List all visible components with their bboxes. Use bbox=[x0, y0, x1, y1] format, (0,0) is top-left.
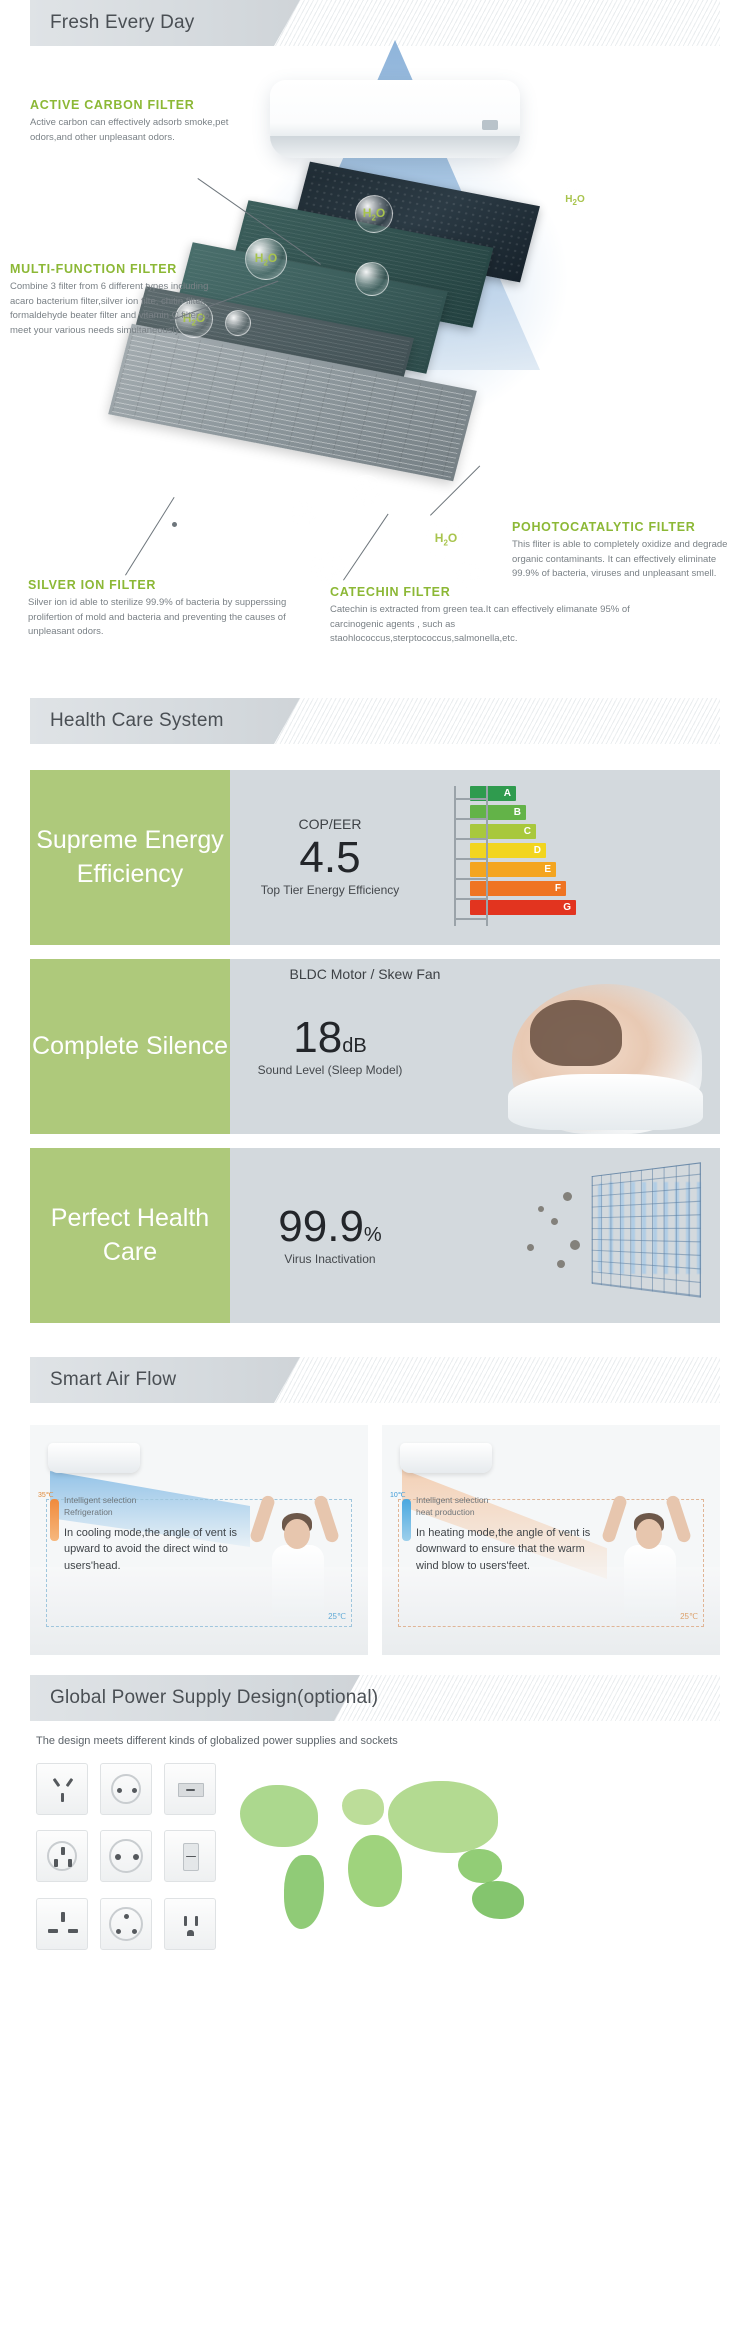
section-fresh-every-day: Fresh Every Day H2O H2O H2O bbox=[0, 0, 750, 620]
air-conditioner-icon bbox=[48, 1443, 140, 1473]
bubble-label-5: H2O bbox=[435, 531, 457, 547]
map-africa bbox=[348, 1835, 402, 1907]
temp-label-bottom: 25℃ bbox=[680, 1612, 698, 1621]
water-bubble-icon bbox=[225, 310, 251, 336]
water-bubble-icon bbox=[355, 262, 389, 296]
map-north-america bbox=[240, 1785, 318, 1847]
health-card-heading: Supreme Energy Efficiency bbox=[30, 770, 230, 945]
filter-title: SILVER ION FILTER bbox=[28, 578, 318, 592]
map-south-america bbox=[284, 1855, 324, 1929]
flow-body-text: In heating mode,the angle of vent is dow… bbox=[416, 1525, 596, 1575]
filter-title: MULTI-FUNCTION FILTER bbox=[10, 262, 215, 276]
virus-particle-icon bbox=[551, 1218, 558, 1225]
stat-label-top: BLDC Motor / Skew Fan bbox=[240, 966, 490, 982]
section-title-fresh: Fresh Every Day bbox=[30, 12, 194, 34]
virus-particle-icon bbox=[538, 1206, 544, 1212]
health-card-virus: Perfect Health Care 99.9% Virus Inactiva… bbox=[30, 1148, 720, 1323]
health-card-silence: Complete Silence BLDC Motor / Skew Fan 1… bbox=[30, 959, 720, 1134]
bubble-label-1: H2O bbox=[363, 206, 385, 222]
virus-particle-icon bbox=[527, 1244, 534, 1251]
water-bubble-icon: H2O bbox=[425, 518, 467, 560]
filter-label-silver-ion: SILVER ION FILTER Silver ion id able to … bbox=[28, 578, 318, 640]
stat-label-top: COP/EER bbox=[230, 816, 430, 832]
virus-particle-icon bbox=[563, 1192, 572, 1201]
socket-switch-icon bbox=[164, 1763, 216, 1815]
map-australia bbox=[472, 1881, 524, 1919]
power-content-row bbox=[30, 1763, 720, 1953]
health-card-heading: Perfect Health Care bbox=[30, 1148, 230, 1323]
section-title-health: Health Care System bbox=[30, 710, 224, 732]
thermometer-icon bbox=[402, 1499, 411, 1541]
socket-us-icon bbox=[164, 1898, 216, 1950]
banner-hatch-pattern bbox=[274, 698, 720, 744]
water-bubble-icon bbox=[350, 475, 382, 507]
water-bubble-icon bbox=[290, 500, 318, 528]
banner-hatch-pattern bbox=[274, 1357, 720, 1403]
display-led-icon bbox=[482, 120, 498, 130]
flow-card-cooling: 35℃ 25℃ Intelligent selection Refrigerat… bbox=[30, 1425, 368, 1655]
baby-icon bbox=[512, 984, 702, 1134]
health-card-heading: Complete Silence bbox=[30, 959, 230, 1134]
socket-schuko-icon bbox=[100, 1830, 152, 1882]
stat-caption: Virus Inactivation bbox=[230, 1251, 430, 1268]
section-health-care-system: Health Care System Supreme Energy Effici… bbox=[0, 620, 750, 1323]
virus-filter-graphic bbox=[430, 1148, 720, 1323]
leader-line-catechin bbox=[343, 514, 389, 581]
flow-card-text: Intelligent selection Refrigeration In c… bbox=[64, 1495, 244, 1574]
world-map-graphic bbox=[230, 1763, 720, 1953]
leader-line-silver-ion bbox=[125, 497, 175, 576]
flow-mode-line-1: Intelligent selection bbox=[64, 1495, 244, 1507]
stat-caption: Top Tier Energy Efficiency bbox=[230, 882, 430, 899]
filter-grid-icon bbox=[592, 1162, 701, 1297]
filter-label-active-carbon: ACTIVE CARBON FILTER Active carbon can e… bbox=[30, 98, 245, 145]
stat-value: 18dB bbox=[230, 1014, 430, 1062]
section-banner-health: Health Care System bbox=[30, 698, 720, 744]
socket-za-icon bbox=[36, 1830, 88, 1882]
stat-value: 4.5 bbox=[230, 834, 430, 882]
socket-3pin-round-icon bbox=[100, 1898, 152, 1950]
flow-mode-line-1: Intelligent selection bbox=[416, 1495, 596, 1507]
virus-particle-icon bbox=[570, 1240, 580, 1250]
stat-unit: dB bbox=[342, 1035, 366, 1057]
water-bubble-icon: H2O bbox=[560, 185, 590, 215]
filter-label-catechin: CATECHIN FILTER Catechin is extracted fr… bbox=[330, 585, 630, 647]
map-europe bbox=[342, 1789, 384, 1825]
socket-eu-round-icon bbox=[100, 1763, 152, 1815]
air-conditioner-unit bbox=[270, 80, 520, 158]
socket-au-icon bbox=[36, 1763, 88, 1815]
thermometer-icon bbox=[50, 1499, 59, 1541]
map-southeast-asia bbox=[458, 1849, 502, 1883]
leader-dot-silver-ion bbox=[172, 522, 177, 527]
flow-card-text: Intelligent selection heat production In… bbox=[416, 1495, 596, 1574]
energy-label-graphic: A B C D E F G bbox=[430, 770, 720, 945]
health-card-body: COP/EER 4.5 Top Tier Energy Efficiency bbox=[230, 770, 720, 945]
section-global-power: Global Power Supply Design(optional) The… bbox=[0, 1655, 750, 1983]
filter-label-photocatalytic: POHOTOCATALYTIC FILTER This fliter is ab… bbox=[512, 520, 734, 582]
temp-label-top: 10℃ bbox=[390, 1491, 406, 1499]
filter-desc: Catechin is extracted from green tea.It … bbox=[330, 603, 630, 647]
map-asia bbox=[388, 1781, 498, 1853]
bubble-label-3: H2O bbox=[255, 251, 277, 267]
temp-label-bottom: 25℃ bbox=[328, 1612, 346, 1621]
virus-particle-icon bbox=[557, 1260, 565, 1268]
filter-title: CATECHIN FILTER bbox=[330, 585, 630, 599]
water-bubble-icon: H2O bbox=[355, 195, 393, 233]
filter-title: POHOTOCATALYTIC FILTER bbox=[512, 520, 734, 534]
flow-card-heating: 10℃ 25℃ Intelligent selection heat produ… bbox=[382, 1425, 720, 1655]
air-conditioner-icon bbox=[400, 1443, 492, 1473]
socket-uk-icon bbox=[36, 1898, 88, 1950]
sleeping-baby-graphic bbox=[430, 959, 720, 1134]
section-smart-air-flow: Smart Air Flow 35℃ 25℃ Intelligent selec… bbox=[0, 1337, 750, 1655]
filter-desc: Combine 3 filter from 6 different types … bbox=[10, 280, 215, 339]
health-card-energy: Supreme Energy Efficiency COP/EER 4.5 To… bbox=[30, 770, 720, 945]
filter-desc: Active carbon can effectively adsorb smo… bbox=[30, 116, 245, 145]
stat-unit: % bbox=[364, 1224, 382, 1246]
socket-rocker-icon bbox=[164, 1830, 216, 1882]
health-card-stat: COP/EER 4.5 Top Tier Energy Efficiency bbox=[230, 816, 430, 899]
flow-mode-line-2: Refrigeration bbox=[64, 1507, 244, 1519]
filter-desc: Silver ion id able to sterilize 99.9% of… bbox=[28, 596, 318, 640]
section-banner-power: Global Power Supply Design(optional) bbox=[30, 1675, 720, 1721]
flow-body-text: In cooling mode,the angle of vent is upw… bbox=[64, 1525, 244, 1575]
stat-caption: Sound Level (Sleep Model) bbox=[230, 1062, 430, 1079]
health-card-stat: BLDC Motor / Skew Fan 18dB Sound Level (… bbox=[230, 1014, 430, 1079]
socket-grid bbox=[30, 1763, 216, 1953]
stat-value: 99.9% bbox=[230, 1203, 430, 1251]
ladder-icon bbox=[454, 786, 488, 926]
product-detail-page: Fresh Every Day H2O H2O H2O bbox=[0, 0, 750, 1983]
temp-label-top: 35℃ bbox=[38, 1491, 54, 1499]
section-title-flow: Smart Air Flow bbox=[30, 1369, 176, 1391]
banner-hatch-pattern bbox=[334, 1675, 720, 1721]
filter-title: ACTIVE CARBON FILTER bbox=[30, 98, 245, 112]
bubble-label-2: H2O bbox=[565, 194, 584, 207]
health-card-body: BLDC Motor / Skew Fan 18dB Sound Level (… bbox=[230, 959, 720, 1134]
flow-mode-line-2: heat production bbox=[416, 1507, 596, 1519]
health-card-body: 99.9% Virus Inactivation bbox=[230, 1148, 720, 1323]
water-bubble-icon: H2O bbox=[245, 238, 287, 280]
power-subtitle: The design meets different kinds of glob… bbox=[36, 1735, 720, 1747]
flow-card-row: 35℃ 25℃ Intelligent selection Refrigerat… bbox=[30, 1425, 720, 1655]
filter-desc: This fliter is able to completely oxidiz… bbox=[512, 538, 734, 582]
section-title-power: Global Power Supply Design(optional) bbox=[30, 1687, 378, 1709]
filter-label-multi-function: MULTI-FUNCTION FILTER Combine 3 filter f… bbox=[10, 262, 215, 339]
health-card-stat: 99.9% Virus Inactivation bbox=[230, 1203, 430, 1268]
section-banner-flow: Smart Air Flow bbox=[30, 1357, 720, 1403]
